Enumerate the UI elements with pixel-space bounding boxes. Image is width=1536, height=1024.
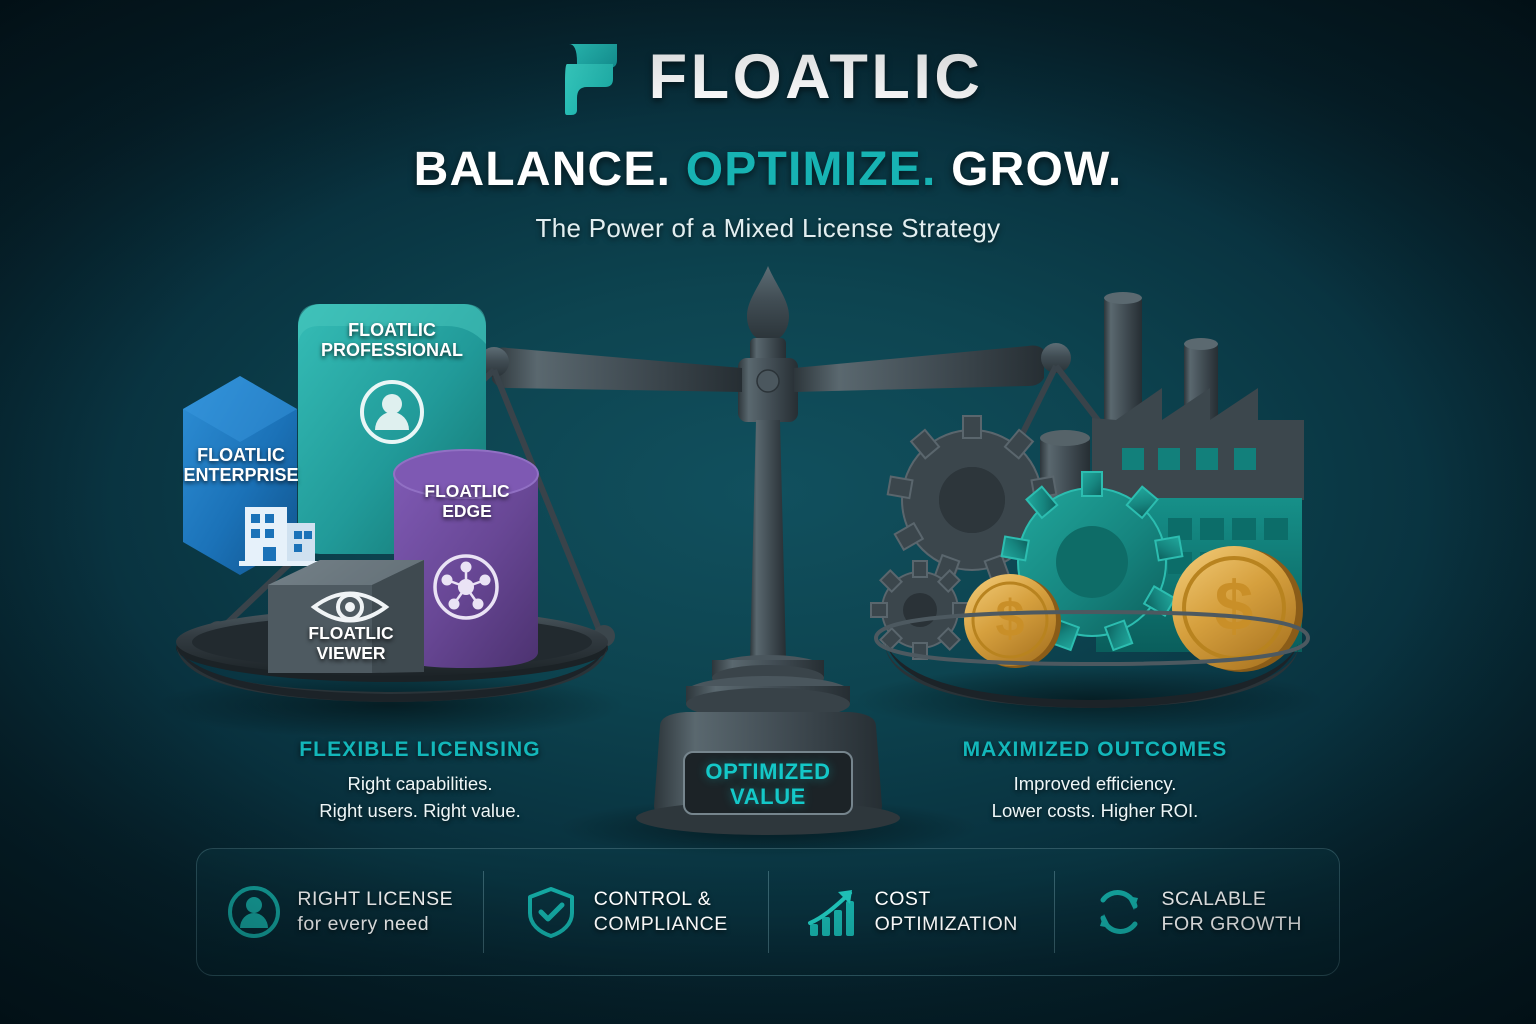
feature-control-compliance-line2: COMPLIANCE bbox=[594, 912, 728, 937]
feature-control-compliance-line1: CONTROL & bbox=[594, 887, 728, 912]
feature-right-license[interactable]: RIGHT LICENSE for every need bbox=[197, 849, 483, 975]
right-pan-caption-line1: Improved efficiency. bbox=[925, 771, 1265, 798]
right-pan-caption-title: MAXIMIZED OUTCOMES bbox=[925, 738, 1265, 762]
shield-check-icon bbox=[523, 884, 579, 940]
infographic-canvas: FLOATLIC BALANCE. OPTIMIZE. GROW. The Po… bbox=[0, 0, 1536, 1024]
feature-cost-optimization-line1: COST bbox=[875, 887, 1018, 912]
license-card-viewer bbox=[268, 560, 424, 673]
gear-icon-small bbox=[871, 561, 969, 659]
optimized-value-plaque: OPTIMIZED VALUE bbox=[684, 760, 852, 809]
feature-cost-optimization-line2: OPTIMIZATION bbox=[875, 912, 1018, 937]
feature-scalable-growth[interactable]: SCALABLE FOR GROWTH bbox=[1054, 849, 1340, 975]
feature-cost-optimization[interactable]: COST OPTIMIZATION bbox=[768, 849, 1054, 975]
feature-scalable-growth-line1: SCALABLE bbox=[1162, 887, 1302, 912]
feature-control-compliance[interactable]: CONTROL & COMPLIANCE bbox=[483, 849, 769, 975]
refresh-cycle-icon bbox=[1091, 884, 1147, 940]
left-pan-caption: FLEXIBLE LICENSING Right capabilities. R… bbox=[250, 738, 590, 825]
scale-column bbox=[636, 266, 900, 835]
left-pan-caption-line2: Right users. Right value. bbox=[250, 798, 590, 825]
left-pan-caption-title: FLEXIBLE LICENSING bbox=[250, 738, 590, 762]
bar-chart-up-icon bbox=[804, 884, 860, 940]
right-pan-caption: MAXIMIZED OUTCOMES Improved efficiency. … bbox=[925, 738, 1265, 825]
svg-text:$: $ bbox=[1215, 567, 1254, 645]
right-pan-caption-line2: Lower costs. Higher ROI. bbox=[925, 798, 1265, 825]
feature-right-license-line2: for every need bbox=[297, 912, 453, 937]
feature-right-license-line1: RIGHT LICENSE bbox=[297, 887, 453, 912]
user-circle-icon bbox=[226, 884, 282, 940]
feature-bar: RIGHT LICENSE for every need CONTROL & C… bbox=[196, 848, 1340, 976]
svg-text:$: $ bbox=[996, 590, 1025, 648]
feature-scalable-growth-line2: FOR GROWTH bbox=[1162, 912, 1302, 937]
left-pan-caption-line1: Right capabilities. bbox=[250, 771, 590, 798]
